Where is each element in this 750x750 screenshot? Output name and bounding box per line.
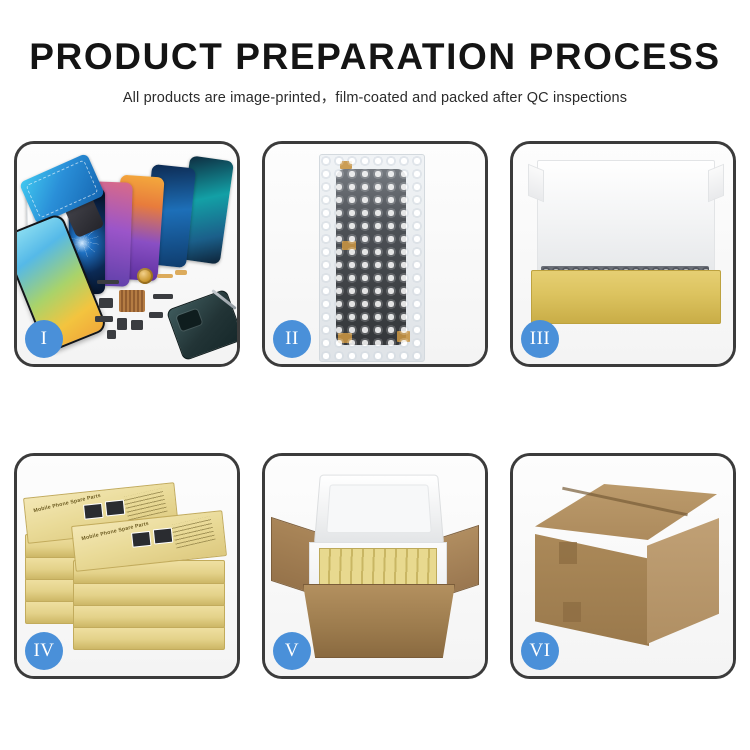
small-module-part bbox=[131, 320, 143, 330]
process-grid: I II III bbox=[14, 141, 736, 679]
tape-piece bbox=[342, 241, 356, 250]
panel-step-2: II bbox=[262, 141, 488, 367]
box-window-thumb bbox=[105, 500, 125, 517]
small-module-part bbox=[149, 312, 163, 318]
white-box-lid bbox=[537, 160, 715, 274]
panel-step-3: III bbox=[510, 141, 736, 367]
carton-front-face bbox=[535, 534, 649, 646]
box-window-thumb bbox=[83, 503, 103, 520]
box-window-thumb bbox=[153, 528, 173, 545]
small-module-part bbox=[107, 330, 116, 339]
box-spec-lines bbox=[171, 516, 215, 548]
wrapped-lcd-screen bbox=[336, 169, 406, 345]
small-module-part bbox=[153, 294, 173, 299]
tape-piece bbox=[340, 161, 352, 169]
page-title: PRODUCT PREPARATION PROCESS bbox=[0, 38, 750, 77]
carton-body bbox=[303, 584, 455, 658]
tape-piece bbox=[338, 333, 352, 343]
header: PRODUCT PREPARATION PROCESS All products… bbox=[0, 38, 750, 107]
yellow-box-base bbox=[531, 270, 721, 324]
foam-lid bbox=[314, 475, 444, 545]
chip-array-part bbox=[119, 290, 145, 312]
carton-tape-lower bbox=[563, 602, 581, 622]
flex-cable-part bbox=[157, 274, 173, 278]
box-window-thumb bbox=[131, 531, 151, 548]
spare-parts-cluster bbox=[93, 264, 237, 356]
flex-cable-part bbox=[175, 270, 187, 275]
copper-coil-part bbox=[137, 268, 153, 284]
panel-step-5: V bbox=[262, 453, 488, 679]
stacked-box bbox=[73, 582, 225, 606]
small-module-part bbox=[117, 318, 127, 330]
carton-side-face bbox=[647, 518, 719, 644]
step-badge-5: V bbox=[273, 632, 311, 670]
step-badge-2: II bbox=[273, 320, 311, 358]
step-badge-3: III bbox=[521, 320, 559, 358]
box-stack: Mobile Phone Spare Parts Mobile Phone Sp… bbox=[25, 478, 231, 662]
product-preparation-infographic: PRODUCT PREPARATION PROCESS All products… bbox=[0, 0, 750, 750]
small-module-part bbox=[95, 316, 113, 322]
carton-tape-upper bbox=[559, 542, 577, 564]
connector-part bbox=[97, 280, 119, 284]
step-badge-4: IV bbox=[25, 632, 63, 670]
panel-step-6: VI bbox=[510, 453, 736, 679]
step-badge-6: VI bbox=[521, 632, 559, 670]
small-module-part bbox=[99, 298, 113, 308]
step-badge-1: I bbox=[25, 320, 63, 358]
panel-step-4: Mobile Phone Spare Parts Mobile Phone Sp… bbox=[14, 453, 240, 679]
panel-step-1: I bbox=[14, 141, 240, 367]
bubble-wrap-pouch bbox=[319, 154, 425, 362]
tape-piece bbox=[397, 331, 410, 342]
stacked-box bbox=[73, 604, 225, 628]
stacked-box bbox=[73, 626, 225, 650]
page-subtitle: All products are image-printed，film-coat… bbox=[0, 86, 750, 107]
